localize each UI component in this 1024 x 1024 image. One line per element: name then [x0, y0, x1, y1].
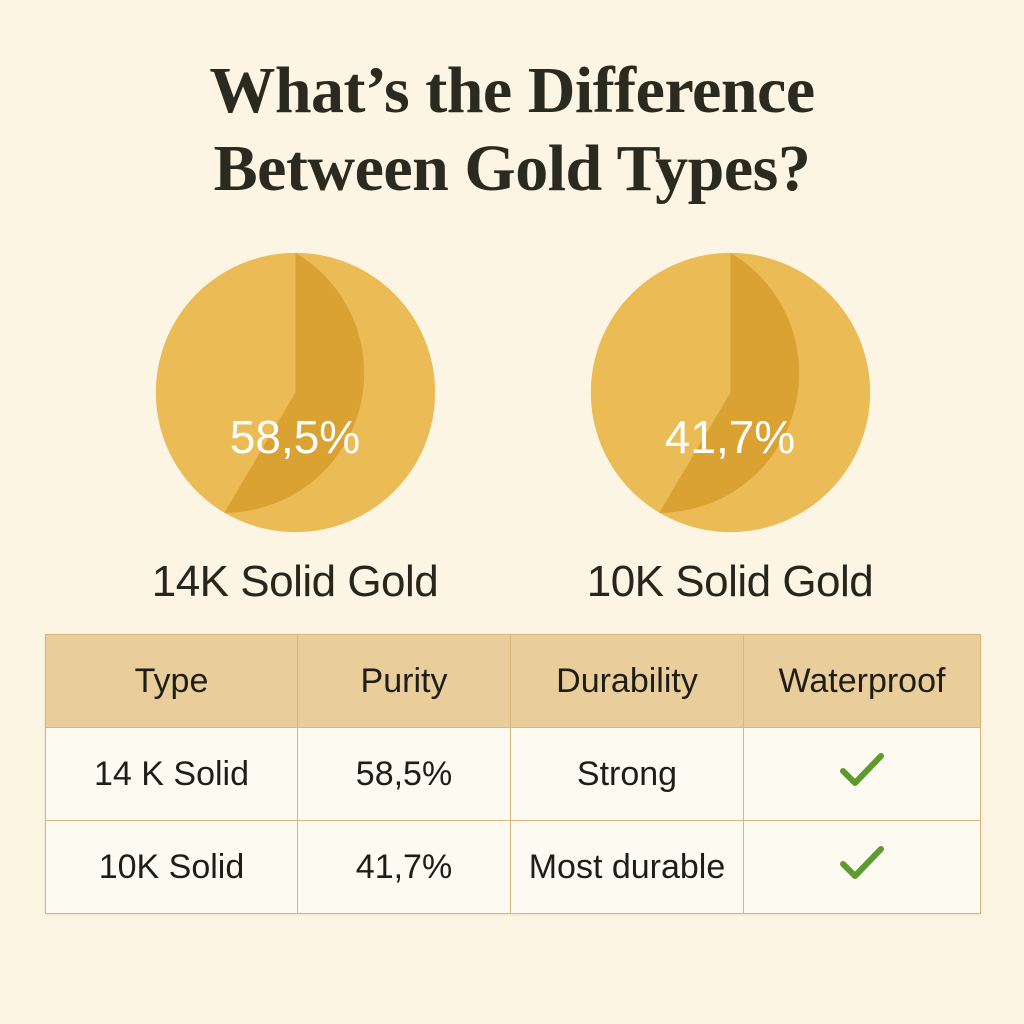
cell-purity: 58,5%	[298, 728, 511, 821]
pie-chart-14k-svg	[153, 250, 438, 535]
chart-card-14k: 58,5% 14K Solid Gold	[80, 250, 510, 607]
table-row: 10K Solid 41,7% Most durable	[46, 821, 981, 914]
pie-caption-10k: 10K Solid Gold	[515, 557, 945, 607]
column-header-purity: Purity	[298, 635, 511, 728]
checkmark-icon	[840, 753, 884, 787]
cell-waterproof	[744, 821, 981, 914]
table-body: 14 K Solid 58,5% Strong 10K Solid 41,7% …	[46, 728, 981, 914]
column-header-type: Type	[46, 635, 298, 728]
pie-value-label-14k: 58,5%	[153, 410, 438, 464]
checkmark-icon	[840, 846, 884, 880]
page-title-line-2: Between Gold Types?	[0, 130, 1024, 208]
table-header: Type Purity Durability Waterproof	[46, 635, 981, 728]
pie-charts-row: 58,5% 14K Solid Gold 41,7% 10K Solid Gol…	[0, 250, 1024, 600]
pie-chart-10k-svg	[588, 250, 873, 535]
gold-comparison-table: Type Purity Durability Waterproof 14 K S…	[45, 634, 981, 914]
cell-purity: 41,7%	[298, 821, 511, 914]
cell-type: 14 K Solid	[46, 728, 298, 821]
cell-waterproof	[744, 728, 981, 821]
cell-durability: Most durable	[511, 821, 744, 914]
cell-type: 10K Solid	[46, 821, 298, 914]
table-header-row: Type Purity Durability Waterproof	[46, 635, 981, 728]
cell-durability: Strong	[511, 728, 744, 821]
chart-card-10k: 41,7% 10K Solid Gold	[515, 250, 945, 607]
pie-chart-10k: 41,7%	[588, 250, 873, 535]
pie-chart-14k: 58,5%	[153, 250, 438, 535]
table-row: 14 K Solid 58,5% Strong	[46, 728, 981, 821]
page-title-line-1: What’s the Difference	[0, 52, 1024, 130]
column-header-waterproof: Waterproof	[744, 635, 981, 728]
pie-value-label-10k: 41,7%	[588, 410, 873, 464]
pie-caption-14k: 14K Solid Gold	[80, 557, 510, 607]
column-header-durability: Durability	[511, 635, 744, 728]
page-title: What’s the Difference Between Gold Types…	[0, 52, 1024, 208]
